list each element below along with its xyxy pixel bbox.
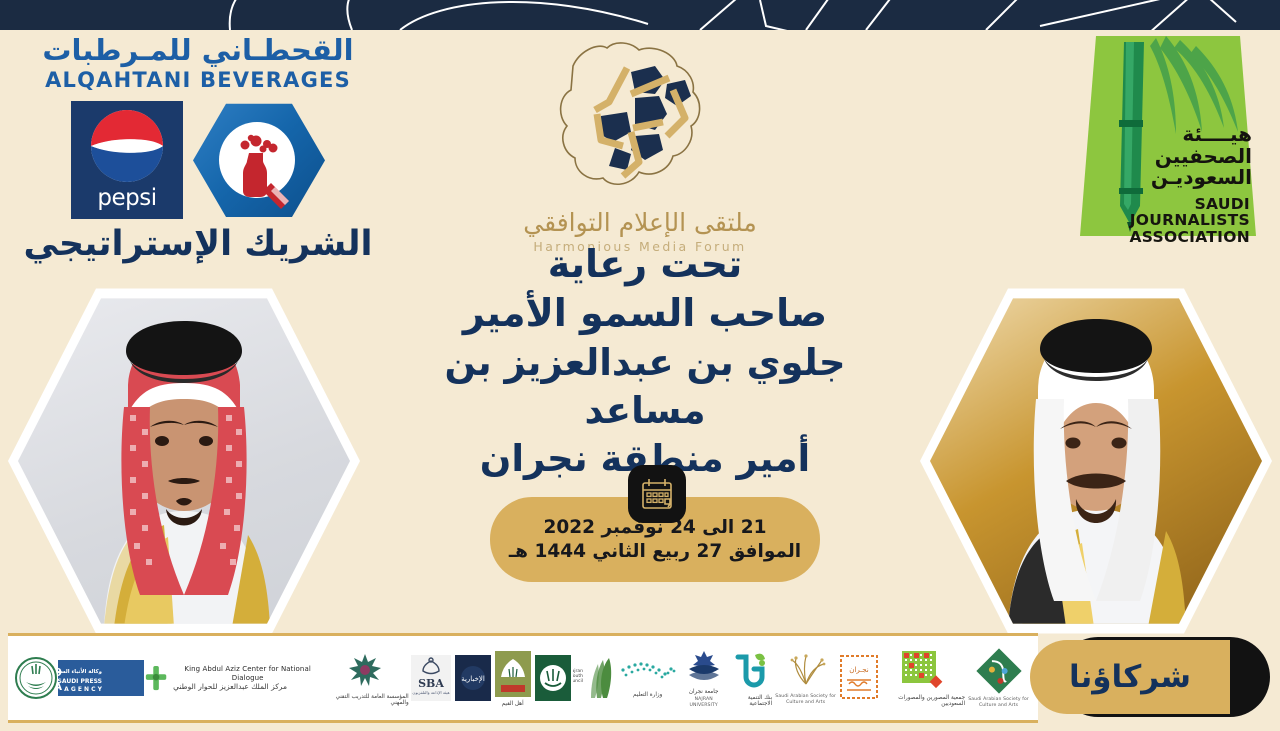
calendar-icon: [628, 465, 686, 523]
partner-logo-najran-literary-club[interactable]: نجـران: [839, 643, 879, 713]
pepsi-wordmark: pepsi: [97, 185, 156, 211]
strategic-sponsor-block: القحطـاني للمـرطبات ALQAHTANI BEVERAGES: [18, 34, 378, 264]
partner-logo-al-ekhbariya-tv[interactable]: الإخبارية: [453, 643, 493, 713]
bottle-icon: [193, 101, 325, 219]
top-band-lines: [0, 0, 1280, 30]
portrait-left-prince-najran: [8, 285, 360, 637]
partners-tab[interactable]: شركاؤنا: [1030, 640, 1230, 714]
svg-text:وكالة الأنباء السعودية: وكالة الأنباء السعودية: [58, 667, 102, 675]
portrait-right-prince-jalawi: [920, 285, 1272, 637]
patron-line-1: تحت رعاية: [390, 240, 900, 289]
partners-tab-label: شركاؤنا: [1069, 659, 1191, 695]
svg-text:SAUDI PRESS: SAUDI PRESS: [58, 678, 102, 685]
partner-logo-saudi-government-emblem[interactable]: [14, 643, 58, 713]
partner-logo-ahl-alqiyam[interactable]: أهل القيم: [493, 643, 533, 713]
event-date-hijri: الموافق 27 ربيع الثاني 1444 هـ: [509, 541, 801, 562]
svg-text:SBA: SBA: [418, 677, 444, 690]
pepsi-logo: pepsi: [71, 101, 183, 219]
sja-name-en: SAUDI JOURNALISTS ASSOCIATION: [1070, 196, 1250, 245]
svg-text:Council: Council: [573, 678, 583, 684]
saudi-map-forum-logo: [535, 36, 745, 204]
poster-root: القحطـاني للمـرطبات ALQAHTANI BEVERAGES: [0, 0, 1280, 731]
sja-name-ar: هيــــئة الصحفيين السعوديـن: [1151, 124, 1252, 189]
forum-title-ar: ملتقى الإعلام التوافقي: [470, 208, 810, 237]
svg-text:A G E N C Y: A G E N C Y: [64, 686, 103, 693]
patron-line-2: صاحب السمو الأمير: [390, 289, 900, 338]
partners-strip: Saudi Arabian Society for Culture and Ar…: [8, 633, 1272, 723]
partner-logo-najran-youth-council[interactable]: NajranYouthCouncil: [573, 643, 615, 713]
partner-logo-saudi-arts-culture-society[interactable]: Saudi Arabian Society for Culture and Ar…: [965, 643, 1032, 713]
saudi-journalists-association-logo: هيــــئة الصحفيين السعوديـن SAUDI JOURNA…: [1070, 36, 1260, 241]
svg-text:نجـران: نجـران: [849, 666, 869, 674]
partners-logo-panel: Saudi Arabian Society for Culture and Ar…: [8, 633, 1038, 723]
sponsor-logo-row: pepsi: [18, 101, 378, 219]
sponsor-name-en: ALQAHTANI BEVERAGES: [18, 68, 378, 92]
partner-logo-sba[interactable]: SBAهيئة الإذاعة والتلفزيون: [409, 643, 453, 713]
partner-logo-najran-university[interactable]: جامعة نجران NAJRAN UNIVERSITY: [681, 643, 727, 713]
svg-text:الإخبارية: الإخبارية: [461, 675, 485, 683]
partner-logo-social-development-bank[interactable]: بنك التنمية الاجتماعية: [727, 643, 773, 713]
forum-logo-block: ملتقى الإعلام التوافقي Harmonious Media …: [470, 36, 810, 254]
top-decorative-band: [0, 0, 1280, 30]
partner-logo-saudi-culture-arts-najran[interactable]: Saudi Arabian Society for Culture and Ar…: [772, 643, 839, 713]
patron-headline: تحت رعاية صاحب السمو الأمير جلوي بن عبدا…: [390, 240, 900, 483]
strategic-partner-label: الشريك الإستراتيجي: [18, 225, 378, 264]
partner-logo-tvtc[interactable]: المؤسسة العامة للتدريب التقني والمهني: [322, 643, 408, 713]
partner-logo-king-abdulaziz-national-dialogue[interactable]: King Abdul Aziz Center for National Dial…: [144, 643, 322, 713]
partner-logo-ministry-of-education[interactable]: وزارة التعليم: [615, 643, 681, 713]
partner-logo-saudi-press-agency[interactable]: ШЕ9SPAوكالة الأنباء السعوديةSAUDI PRESSA…: [58, 643, 144, 713]
event-date-block: 21 الى 24 نوفمبر 2022 الموافق 27 ربيع ال…: [490, 497, 820, 582]
sponsor-name-ar: القحطـاني للمـرطبات: [18, 34, 378, 67]
pepsi-globe-icon: [90, 109, 164, 183]
partner-logo-saudi-ministry-emblem[interactable]: [533, 643, 573, 713]
patron-line-3: جلوي بن عبدالعزيز بن مساعد: [390, 339, 900, 435]
alqahtani-hexagon-logo: [193, 101, 325, 219]
partner-logo-saudi-photographers-association[interactable]: جمعية المصورين والمصورات السعوديين: [879, 643, 965, 713]
